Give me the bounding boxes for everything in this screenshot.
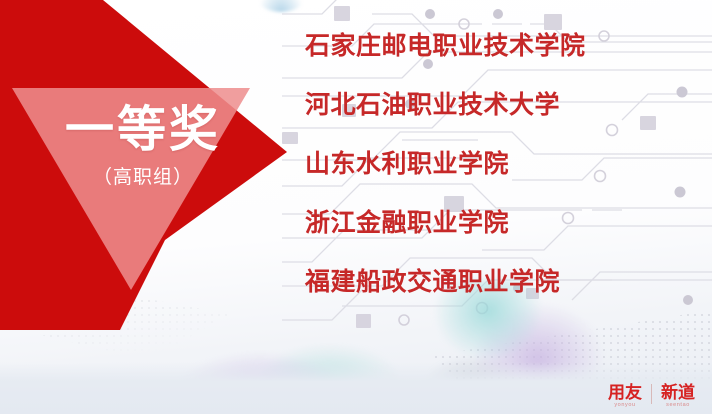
winner-name: 河北石油职业技术大学 [305, 85, 560, 121]
winner-name: 浙江金融职业学院 [305, 203, 509, 239]
list-item: 福建船政交通职业学院 [305, 250, 705, 309]
list-item: 山东水利职业学院 [305, 132, 705, 191]
award-triangle-graphic [0, 0, 300, 330]
brand-logos: 用友 yonyou 新道 seentao [599, 384, 704, 409]
logo-seentao-en: seentao [666, 403, 690, 409]
list-item: 石家庄邮电职业技术学院 [305, 14, 705, 73]
winner-name: 福建船政交通职业学院 [305, 262, 560, 298]
list-item: 浙江金融职业学院 [305, 191, 705, 250]
logo-seentao-cn: 新道 [661, 384, 695, 401]
logo-yonyou: 用友 yonyou [599, 384, 651, 409]
logo-seentao: 新道 seentao [652, 384, 704, 409]
winner-name: 山东水利职业学院 [305, 144, 509, 180]
list-item: 河北石油职业技术大学 [305, 73, 705, 132]
winner-name: 石家庄邮电职业技术学院 [305, 26, 586, 62]
winners-list: 石家庄邮电职业技术学院 河北石油职业技术大学 山东水利职业学院 浙江金融职业学院… [305, 14, 705, 309]
logo-yonyou-en: yonyou [614, 403, 635, 409]
logo-yonyou-cn: 用友 [608, 384, 642, 401]
award-slide: 一等奖 （高职组） 石家庄邮电职业技术学院 河北石油职业技术大学 山东水利职业学… [0, 0, 712, 414]
